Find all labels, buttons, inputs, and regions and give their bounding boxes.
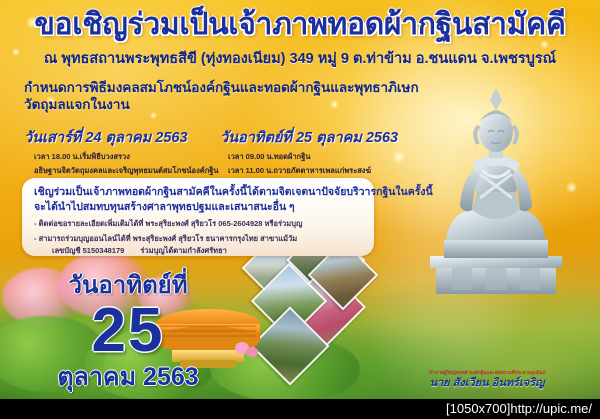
day-heading: วันเสาร์ที่ 24 ตุลาคม 2563 — [24, 126, 224, 149]
program-heading: กำหนดการพิธีมงคลสมโภชน์องค์กฐินและทอดผ้า… — [24, 79, 424, 113]
account-tail-note: ร่วมบุญได้ตามกำลังศรัทธา — [124, 246, 227, 255]
venue-subtitle: ณ พุทธสถานพระพุทธสีขี (ทุ่งทองเนียม) 349… — [0, 50, 600, 68]
day-line: อธิษฐานจิตวัตถุมงคลและเจริญพุทธมนต์สมโภช… — [24, 165, 224, 177]
sponsor-credit: เจ้าภาพผู้ใหญ่ทอดผ้าองค์กฐินและจัดสถานที… — [392, 370, 582, 390]
account-number: เลขบัญชี 5150348179 — [52, 246, 124, 255]
program-line-1: กำหนดการพิธีมงคลสมโภชน์องค์กฐินและทอดผ้า… — [24, 79, 424, 96]
online-donation-line: - สามารถร่วมบุญออนไลน์ได้ที่ พระสุริยะพง… — [34, 232, 364, 245]
day-line: เวลา 11.00 น.ถวายภัตตาหารเพลแก่พระสงฆ์ — [220, 165, 430, 177]
day-line: เวลา 18.00 น.เริ่มพิธีบวงสรวง — [24, 151, 224, 163]
page-title: ขอเชิญร่วมเป็นเจ้าภาพทอดผ้ากฐินสามัคคี — [0, 8, 600, 42]
program-line-2: วัตถุมลแจกในงาน — [24, 96, 424, 113]
schedule-day-saturday: วันเสาร์ที่ 24 ตุลาคม 2563 เวลา 18.00 น.… — [24, 126, 224, 177]
contact-line: - ติดต่อขอรายละเอียดเพิ่มเติมได้ที่ พระส… — [34, 217, 364, 230]
poster-canvas: ขอเชิญร่วมเป็นเจ้าภาพทอดผ้ากฐินสามัคคี ณ… — [0, 0, 600, 419]
image-host-watermark: [1050x700]http://upic.me/ — [446, 400, 592, 417]
account-number-line: เลขบัญชี 5150348179ร่วมบุญได้ตามกำลังศรั… — [34, 245, 364, 257]
info-main-line: เชิญร่วมเป็นเจ้าภาพทอดผ้ากฐินสามัคคีในคร… — [34, 185, 364, 200]
day-line: เวลา 09.00 น.ทอดผ้ากฐิน — [220, 151, 430, 163]
info-main-line: จะได้นำไปสมทบทุนสร้างศาลาพุทธปฐมและเสนาส… — [34, 200, 364, 215]
day-heading: วันอาทิตย์ที่ 25 ตุลาคม 2563 — [220, 126, 430, 149]
bokeh-sparkle — [150, 112, 157, 119]
big-date-number: 25 — [18, 300, 238, 362]
big-date-block: วันอาทิตย์ที่ 25 ตุลาคม 2563 — [18, 272, 238, 392]
buddha-statue-image — [410, 88, 582, 298]
big-date-month-year: ตุลาคม 2563 — [18, 362, 238, 392]
donation-info-box: เชิญร่วมเป็นเจ้าภาพทอดผ้ากฐินสามัคคีในคร… — [22, 178, 374, 256]
schedule-day-sunday: วันอาทิตย์ที่ 25 ตุลาคม 2563 เวลา 09.00 … — [220, 126, 430, 177]
sponsor-name: นาย สังเวียน อินทร์เจริญ — [392, 376, 582, 390]
